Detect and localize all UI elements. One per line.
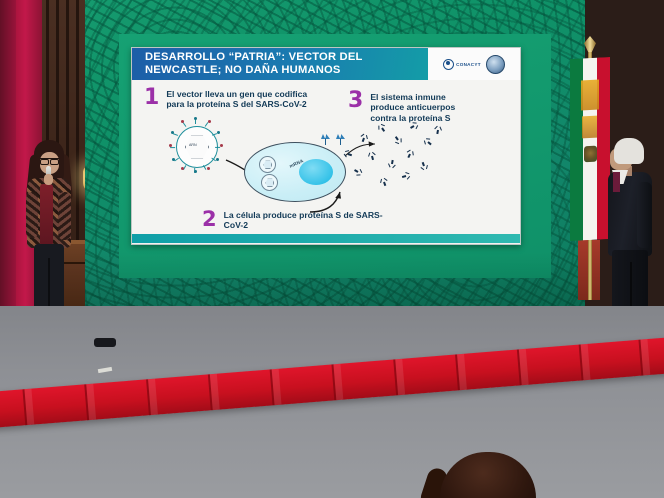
conacyt-mark-icon <box>443 59 454 70</box>
bullet-1-number: 1 <box>144 89 159 110</box>
inner-top <box>40 184 53 246</box>
bullet-1-text: El vector lleva un gen que codifica para… <box>166 89 312 110</box>
white-hair <box>614 138 644 164</box>
vesicle <box>261 174 278 191</box>
slide-title: DESARROLLO “PATRIA”: VECTOR DEL NEWCASTL… <box>145 51 403 76</box>
conacyt-logo: CONACYT <box>443 59 481 70</box>
government-seal-icon <box>486 55 505 74</box>
bullet-1: 1 El vector lleva un gen que codifica pa… <box>144 89 312 110</box>
projected-slide: DESARROLLO “PATRIA”: VECTOR DEL NEWCASTL… <box>131 47 521 245</box>
coat-of-arms-icon <box>584 146 597 163</box>
spike-protein <box>336 134 345 145</box>
bullet-2-number: 2 <box>202 210 217 231</box>
hand <box>44 174 53 185</box>
arm <box>637 182 652 248</box>
bullet-3-text: El sistema inmune produce anticuerpos co… <box>370 92 476 123</box>
stray-shoe <box>94 338 116 347</box>
bullet-2: 2 La célula produce proteína S de SARS-C… <box>202 210 392 231</box>
flag-gold-fringe-lower <box>582 116 597 139</box>
slide-header: DESARROLLO “PATRIA”: VECTOR DEL NEWCASTL… <box>132 48 520 80</box>
host-cell: mRNA <box>244 142 346 202</box>
necktie <box>613 172 620 192</box>
bullet-3-number: 3 <box>348 92 363 123</box>
screenshot-root: DESARROLLO “PATRIA”: VECTOR DEL NEWCASTL… <box>0 0 664 498</box>
antibody <box>387 159 396 168</box>
bullet-3: 3 El sistema inmune produce anticuerpos … <box>348 92 476 123</box>
arm-right <box>58 192 71 240</box>
arm-left <box>26 192 38 238</box>
logo-group: CONACYT <box>428 48 520 80</box>
cell-nucleus <box>299 159 333 185</box>
glasses-icon <box>40 158 59 163</box>
flag-gold-fringe-upper <box>581 80 599 111</box>
crimson-curtain-fold <box>0 0 16 330</box>
slide-footer-band <box>132 234 520 243</box>
backdrop-shadow <box>85 252 585 312</box>
slide-body: ARN <box>132 80 520 243</box>
vesicle <box>259 156 276 173</box>
conacyt-label: CONACYT <box>456 62 481 67</box>
spike-protein <box>321 134 330 145</box>
antibody <box>433 125 442 134</box>
bullet-2-text: La célula produce proteína S de SARS-CoV… <box>224 210 392 231</box>
